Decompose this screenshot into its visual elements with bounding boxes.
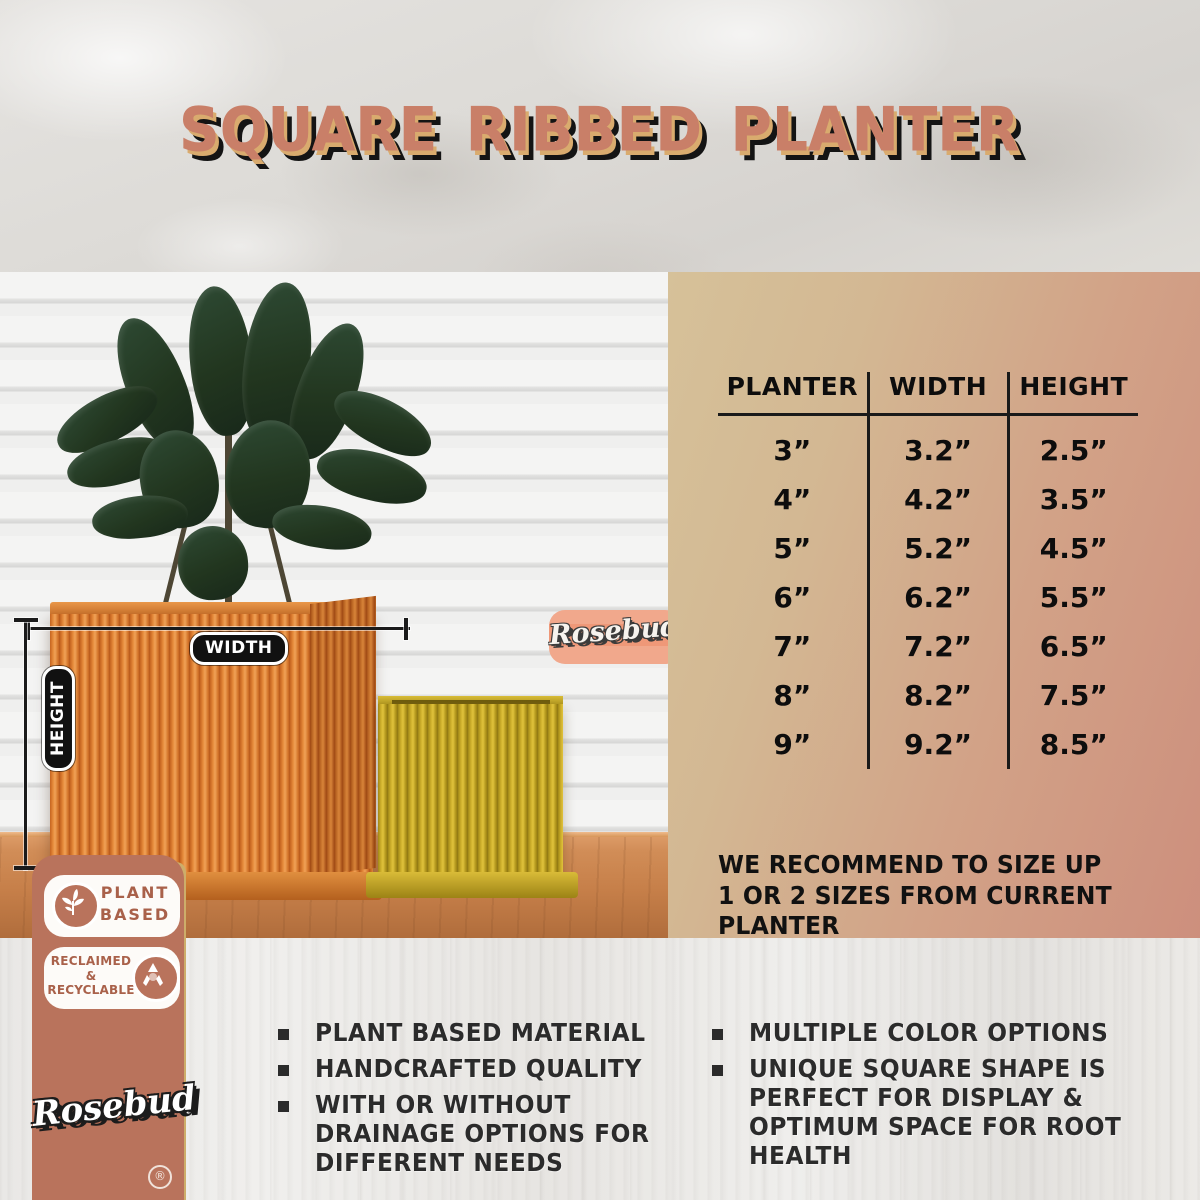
brand-sidebar: PLANT BASED RECLAIMED & RECYCLABLE Roseb… bbox=[32, 855, 184, 1200]
cell-planter: 5” bbox=[718, 524, 868, 573]
feature-text: WITH OR WITHOUT DRAINAGE OPTIONS FOR DIF… bbox=[315, 1090, 653, 1177]
table-row: 7”7.2”6.5” bbox=[718, 622, 1138, 671]
cell-planter: 8” bbox=[718, 671, 868, 720]
cell-planter: 6” bbox=[718, 573, 868, 622]
table-row: 9”9.2”8.5” bbox=[718, 720, 1138, 769]
cell-planter: 9” bbox=[718, 720, 868, 769]
badge-plant-based: PLANT BASED bbox=[44, 875, 180, 937]
page-title-text: Square Ribbed Planter bbox=[180, 78, 1020, 164]
product-photo: WIDTH HEIGHT Rosebud bbox=[0, 272, 668, 938]
table-header-height: HEIGHT bbox=[1008, 372, 1138, 415]
bullet-square-icon bbox=[278, 1101, 289, 1112]
features-right-list: MULTIPLE COLOR OPTIONS UNIQUE SQUARE SHA… bbox=[712, 1018, 1162, 1177]
bullet-square-icon bbox=[712, 1065, 723, 1076]
list-item: HANDCRAFTED QUALITY bbox=[278, 1054, 678, 1083]
list-item: PLANT BASED MATERIAL bbox=[278, 1018, 678, 1047]
size-table: PLANTER WIDTH HEIGHT 3”3.2”2.5” 4”4.2”3.… bbox=[718, 372, 1138, 769]
recommendation-text: WE RECOMMEND TO SIZE UP 1 OR 2 SIZES FRO… bbox=[718, 850, 1122, 942]
table-header-row: PLANTER WIDTH HEIGHT bbox=[718, 372, 1138, 415]
features-left-list: PLANT BASED MATERIAL HANDCRAFTED QUALITY… bbox=[278, 1018, 678, 1184]
table-row: 8”8.2”7.5” bbox=[718, 671, 1138, 720]
height-measure-cap-top bbox=[14, 618, 38, 622]
sidebar-brand-logo: Rosebud bbox=[30, 1079, 185, 1135]
feature-text: MULTIPLE COLOR OPTIONS bbox=[749, 1018, 1108, 1047]
badge-recycle-line1: RECLAIMED bbox=[48, 955, 134, 968]
width-measure-cap-right bbox=[404, 618, 408, 640]
badge-plant-based-line2: BASED bbox=[98, 907, 172, 924]
planter-large-side bbox=[310, 596, 376, 876]
cell-width: 7.2” bbox=[868, 622, 1008, 671]
list-item: UNIQUE SQUARE SHAPE IS PERFECT FOR DISPL… bbox=[712, 1054, 1162, 1170]
rosebud-photo-badge: Rosebud bbox=[549, 610, 668, 664]
rubber-plant bbox=[30, 280, 450, 610]
leaf-icon bbox=[52, 882, 100, 930]
badge-recycle-line3: RECYCLABLE bbox=[44, 984, 138, 997]
cell-height: 5.5” bbox=[1008, 573, 1138, 622]
table-row: 6”6.2”5.5” bbox=[718, 573, 1138, 622]
table-row: 4”4.2”3.5” bbox=[718, 475, 1138, 524]
planter-small-gold bbox=[378, 704, 563, 879]
cell-planter: 3” bbox=[718, 415, 868, 476]
cell-width: 8.2” bbox=[868, 671, 1008, 720]
height-measure-line bbox=[24, 620, 27, 870]
width-label: WIDTH bbox=[190, 632, 288, 665]
width-measure-line bbox=[28, 627, 410, 630]
cell-height: 2.5” bbox=[1008, 415, 1138, 476]
height-label: HEIGHT bbox=[42, 666, 75, 771]
recycle-icon bbox=[132, 954, 180, 1002]
page-title: Square Ribbed Planter bbox=[0, 78, 1200, 198]
cell-height: 8.5” bbox=[1008, 720, 1138, 769]
bullet-square-icon bbox=[278, 1029, 289, 1040]
cell-height: 3.5” bbox=[1008, 475, 1138, 524]
cell-width: 4.2” bbox=[868, 475, 1008, 524]
cell-width: 6.2” bbox=[868, 573, 1008, 622]
cell-planter: 7” bbox=[718, 622, 868, 671]
bullet-square-icon bbox=[712, 1029, 723, 1040]
cell-width: 3.2” bbox=[868, 415, 1008, 476]
feature-text: UNIQUE SQUARE SHAPE IS PERFECT FOR DISPL… bbox=[749, 1054, 1133, 1170]
cell-planter: 4” bbox=[718, 475, 868, 524]
registered-mark: ® bbox=[148, 1165, 172, 1189]
table-row: 5”5.2”4.5” bbox=[718, 524, 1138, 573]
cell-width: 9.2” bbox=[868, 720, 1008, 769]
planter-small-tray bbox=[366, 872, 578, 898]
cell-height: 7.5” bbox=[1008, 671, 1138, 720]
badge-plant-based-line1: PLANT bbox=[98, 885, 172, 902]
list-item: WITH OR WITHOUT DRAINAGE OPTIONS FOR DIF… bbox=[278, 1090, 678, 1177]
cell-height: 4.5” bbox=[1008, 524, 1138, 573]
list-item: MULTIPLE COLOR OPTIONS bbox=[712, 1018, 1162, 1047]
badge-recycle-line2: & bbox=[48, 970, 134, 983]
feature-text: HANDCRAFTED QUALITY bbox=[315, 1054, 642, 1083]
size-table-panel: PLANTER WIDTH HEIGHT 3”3.2”2.5” 4”4.2”3.… bbox=[668, 272, 1200, 938]
feature-text: PLANT BASED MATERIAL bbox=[315, 1018, 646, 1047]
infographic-page: Square Ribbed Planter bbox=[0, 0, 1200, 1200]
table-header-planter: PLANTER bbox=[718, 372, 868, 415]
badge-reclaimed-recyclable: RECLAIMED & RECYCLABLE bbox=[44, 947, 180, 1009]
table-row: 3”3.2”2.5” bbox=[718, 415, 1138, 476]
table-header-width: WIDTH bbox=[868, 372, 1008, 415]
bullet-square-icon bbox=[278, 1065, 289, 1076]
cell-height: 6.5” bbox=[1008, 622, 1138, 671]
cell-width: 5.2” bbox=[868, 524, 1008, 573]
